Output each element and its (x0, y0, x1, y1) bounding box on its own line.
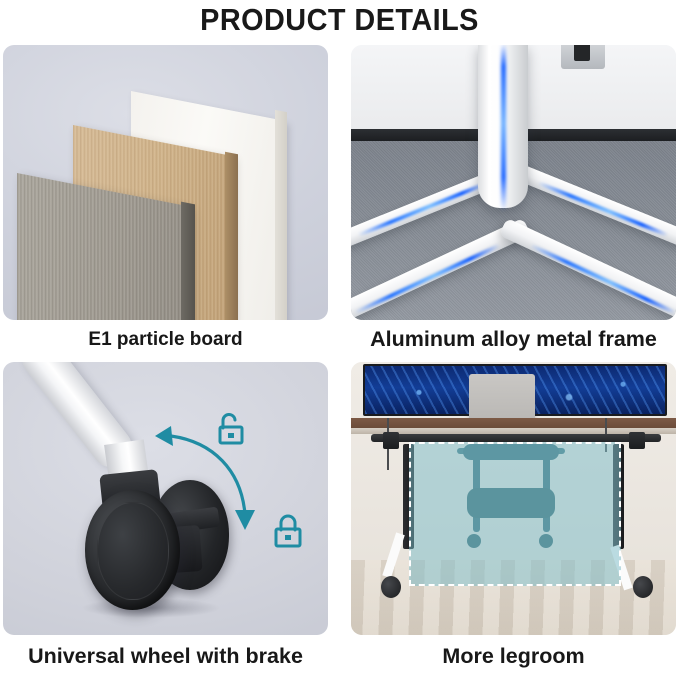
desk-caster-left (381, 576, 401, 598)
panel-particle-board (3, 45, 328, 320)
gray-board-edge (181, 202, 195, 320)
bracket-left (383, 432, 399, 449)
under-desk-beam (371, 434, 661, 442)
panel-more-legroom (351, 362, 676, 635)
unlock-icon (215, 412, 245, 446)
wall-socket (561, 45, 605, 69)
caption-more-legroom: More legroom (351, 644, 676, 669)
lock-icon (273, 514, 303, 548)
page-title: PRODUCT DETAILS (24, 2, 655, 38)
caption-aluminum-frame: Aluminum alloy metal frame (351, 327, 676, 352)
caption-particle-board: E1 particle board (3, 329, 328, 351)
desk-caster-right (633, 576, 653, 598)
rotation-arrow-icon (153, 406, 263, 541)
blue-glow-column (501, 45, 506, 211)
panel-universal-wheel (3, 362, 328, 635)
laptop (469, 374, 535, 422)
panel-aluminum-frame (351, 45, 676, 320)
caption-universal-wheel: Universal wheel with brake (3, 644, 328, 669)
oak-board-edge (225, 152, 238, 320)
legroom-highlight-area (409, 442, 621, 586)
bracket-right (629, 432, 645, 449)
product-details-page: PRODUCT DETAILS E1 particle board Alumin… (0, 0, 679, 673)
white-board-edge (275, 110, 287, 320)
